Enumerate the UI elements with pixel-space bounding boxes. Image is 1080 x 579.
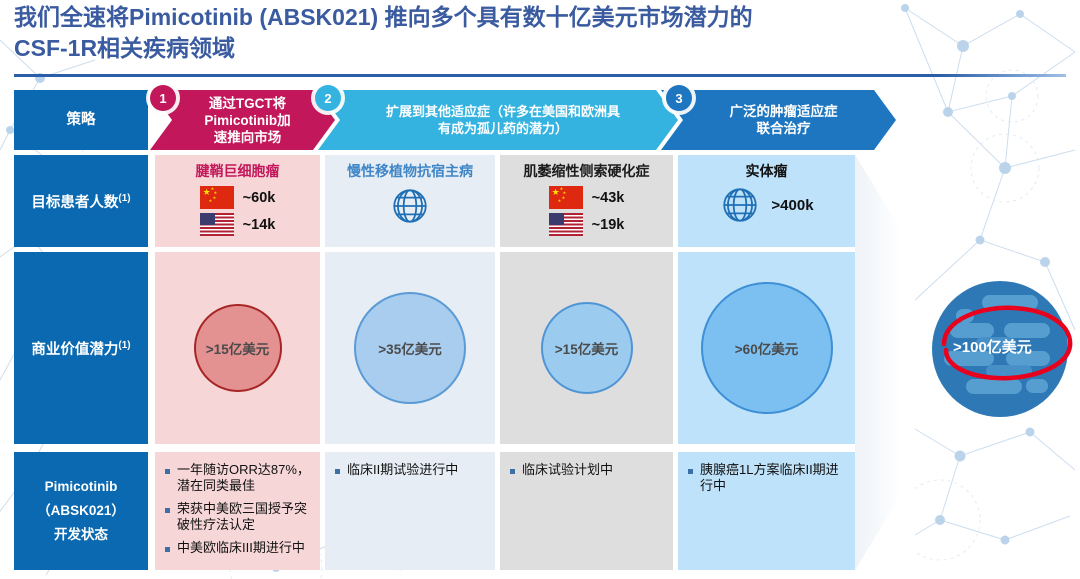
status-cell-cgvhd: 临床II期试验进行中: [325, 452, 495, 570]
list-item: 胰腺癌1L方案临床II期进行中: [688, 462, 845, 494]
bullet-square-icon: [165, 508, 170, 513]
strategy-arrow-1-text: 通过TGCT将 Pimicotinib加 速推向市场: [188, 95, 296, 146]
value-circle-cgvhd-label: >35亿美元: [378, 338, 441, 358]
value-cell-als: >15亿美元: [500, 252, 673, 444]
status-cell-tgct: 一年随访ORR达87%，潜在同类最佳 荣获中美欧三国授予突破性疗法认定 中美欧临…: [155, 452, 320, 570]
list-item: 荣获中美欧三国授予突破性疗法认定: [165, 501, 310, 533]
patient-count-cn-tgct-value: ~60k: [243, 190, 276, 206]
total-market-value-label: >100亿美元: [953, 336, 1032, 357]
title-divider: [14, 74, 1066, 77]
strategy-matrix: 策略 通过TGCT将 Pimicotinib加 速推向市场 1 扩展到其他适应症…: [0, 0, 1080, 579]
value-cell-solid-tumor: >60亿美元: [678, 252, 855, 444]
status-bullet-cgvhd-1: 临床II期试验进行中: [347, 462, 458, 478]
disease-name-solid-tumor: 实体瘤: [678, 155, 855, 181]
china-flag-icon: ★ ★ ★ ★ ★: [200, 186, 234, 209]
strategy-arrow-2[interactable]: 扩展到其他适应症（许多在美国和欧洲具 有成为孤儿药的潜力）: [318, 90, 678, 150]
value-circle-als: >15亿美元: [541, 302, 633, 394]
patients-cell-solid-tumor: 实体瘤 >400k: [678, 155, 855, 247]
status-bullet-als-1: 临床试验计划中: [522, 462, 613, 478]
title-line-2: CSF-1R相关疾病领域: [14, 33, 1014, 64]
title-line-1: 我们全速将Pimicotinib (ABSK021) 推向多个具有数十亿美元市场…: [14, 2, 1014, 33]
patient-count-us-als-value: ~19k: [592, 217, 625, 233]
patient-count-us-tgct-value: ~14k: [243, 217, 276, 233]
list-item: 中美欧临床III期进行中: [165, 540, 310, 556]
value-cell-cgvhd: >35亿美元: [325, 252, 495, 444]
row-label-dev-line3: 开发状态: [54, 523, 108, 547]
value-circle-tgct-label: >15亿美元: [206, 338, 269, 358]
status-bullet-solid-tumor-1: 胰腺癌1L方案临床II期进行中: [700, 462, 845, 494]
row-label-target-patients-superscript: (1): [118, 193, 130, 204]
value-circle-solid-tumor: >60亿美元: [701, 282, 833, 414]
bullet-square-icon: [335, 469, 340, 474]
usa-flag-icon: [549, 213, 583, 236]
bullet-square-icon: [510, 469, 515, 474]
row-label-dev-line1: Pimicotinib: [45, 475, 118, 499]
row-label-commercial-value: 商业价值潜力(1): [14, 252, 148, 444]
status-bullet-tgct-3: 中美欧临床III期进行中: [177, 540, 305, 556]
disease-name-tgct: 腱鞘巨细胞瘤: [155, 155, 320, 181]
bullet-square-icon: [688, 469, 693, 474]
value-circle-als-label: >15亿美元: [555, 338, 618, 358]
row-label-development-status: Pimicotinib （ABSK021） 开发状态: [14, 452, 148, 570]
strategy-arrow-1[interactable]: 通过TGCT将 Pimicotinib加 速推向市场: [150, 90, 335, 150]
strategy-arrow-3[interactable]: 广泛的肿瘤适应症 联合治疗: [661, 90, 896, 150]
patients-cell-cgvhd: 慢性移植物抗宿主病: [325, 155, 495, 247]
step-badge-1-number: 1: [159, 91, 166, 106]
patients-cell-tgct: 腱鞘巨细胞瘤 ★ ★ ★ ★ ★ ~60k ~14k: [155, 155, 320, 247]
strategy-arrow-3-text: 广泛的肿瘤适应症 联合治疗: [714, 103, 844, 137]
value-circle-solid-tumor-label: >60亿美元: [735, 338, 798, 358]
status-bullet-tgct-2: 荣获中美欧三国授予突破性疗法认定: [177, 501, 310, 533]
page-title: 我们全速将Pimicotinib (ABSK021) 推向多个具有数十亿美元市场…: [14, 2, 1014, 64]
step-badge-1: 1: [150, 85, 176, 111]
row-label-strategy: 策略: [14, 90, 148, 150]
status-cell-solid-tumor: 胰腺癌1L方案临床II期进行中: [678, 452, 855, 570]
china-flag-icon: ★ ★ ★ ★ ★: [549, 186, 583, 209]
value-circle-tgct: >15亿美元: [194, 304, 282, 392]
patient-count-cn-tgct: ★ ★ ★ ★ ★ ~60k: [155, 186, 320, 209]
row-label-dev-line2: （ABSK021）: [37, 499, 125, 523]
patient-count-cn-als-value: ~43k: [592, 190, 625, 206]
value-circle-cgvhd: >35亿美元: [354, 292, 466, 404]
value-cell-tgct: >15亿美元: [155, 252, 320, 444]
step-badge-2: 2: [315, 85, 341, 111]
row-label-target-patients: 目标患者人数(1): [14, 155, 148, 247]
patient-count-us-tgct: ~14k: [155, 213, 320, 236]
globe-icon: [389, 185, 431, 227]
bullet-square-icon: [165, 469, 170, 474]
row-label-commercial-value-superscript: (1): [118, 340, 130, 351]
strategy-arrow-2-text: 扩展到其他适应症（许多在美国和欧洲具 有成为孤儿药的潜力）: [370, 103, 626, 137]
step-badge-3-number: 3: [675, 91, 682, 106]
row-label-target-patients-text: 目标患者人数: [31, 195, 118, 211]
globe-icon: [719, 184, 761, 226]
usa-flag-icon: [200, 213, 234, 236]
status-bullet-tgct-1: 一年随访ORR达87%，潜在同类最佳: [177, 462, 310, 494]
row-label-strategy-text: 策略: [67, 108, 96, 132]
row-label-commercial-value-text: 商业价值潜力: [31, 342, 118, 358]
list-item: 临床II期试验进行中: [335, 462, 485, 478]
status-cell-als: 临床试验计划中: [500, 452, 673, 570]
patient-count-global-solid-tumor-value: >400k: [771, 197, 813, 214]
disease-name-als: 肌萎缩性侧索硬化症: [500, 155, 673, 181]
list-item: 一年随访ORR达87%，潜在同类最佳: [165, 462, 310, 494]
patient-count-cn-als: ★ ★ ★ ★ ★ ~43k: [500, 186, 673, 209]
step-badge-3: 3: [666, 85, 692, 111]
disease-name-cgvhd: 慢性移植物抗宿主病: [325, 155, 495, 181]
patient-count-us-als: ~19k: [500, 213, 673, 236]
step-badge-2-number: 2: [324, 91, 331, 106]
bullet-square-icon: [165, 547, 170, 552]
list-item: 临床试验计划中: [510, 462, 663, 478]
patients-cell-als: 肌萎缩性侧索硬化症 ★ ★ ★ ★ ★ ~43k ~19k: [500, 155, 673, 247]
